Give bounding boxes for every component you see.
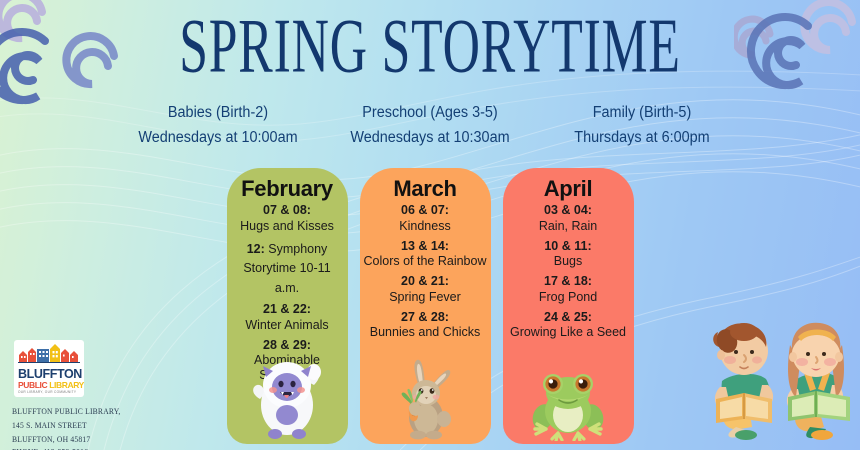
schedule-entry: 07 & 08: Hugs and Kisses: [231, 203, 344, 234]
logo-name-library: LIBRARY: [49, 381, 84, 390]
library-branding: BLUFFTON PUBLIC LIBRARY OUR LIBRARY, OUR…: [12, 340, 130, 450]
month-name: March: [364, 176, 487, 201]
entry-topic: Frog Pond: [507, 290, 630, 305]
session-age-label: Family (Birth-5): [543, 100, 740, 125]
entry-dates: 27 & 28:: [364, 310, 487, 325]
logo-name-bluffton: BLUFFTON: [18, 368, 80, 381]
page-title: SPRING STORYTIME: [77, 8, 782, 85]
entry-dates: 28 & 29:: [231, 338, 344, 353]
session-time-label: Wednesdays at 10:00am: [119, 125, 316, 150]
children-reading-illustration: [700, 315, 856, 450]
entry-topic: Bugs: [507, 254, 630, 269]
entry-topic: Bunnies and Chicks: [364, 325, 487, 340]
session-age-label: Preschool (Ages 3-5): [331, 100, 528, 125]
frog-icon: [503, 369, 634, 444]
session-list: Babies (Birth-2) Wednesdays at 10:00am P…: [0, 100, 860, 150]
month-name: February: [231, 176, 344, 201]
entry-topic: Hugs and Kisses: [231, 219, 344, 234]
entry-dates: 24 & 25:: [507, 310, 630, 325]
logo-tagline: OUR LIBRARY, OUR COMMUNITY: [18, 390, 80, 394]
session-babies: Babies (Birth-2) Wednesdays at 10:00am: [119, 100, 316, 150]
address-phone: PHONE: 419-358-5016: [12, 446, 130, 450]
entry-topic: Growing Like a Seed: [507, 325, 630, 340]
entry-dates: 21 & 22:: [231, 302, 344, 317]
entry-topic: Kindness: [364, 219, 487, 234]
yeti-snowman-icon: [227, 355, 348, 444]
library-address: BLUFFTON PUBLIC LIBRARY, 145 S. MAIN STR…: [12, 405, 130, 450]
address-line-3: BLUFFTON, OH 45817: [12, 432, 130, 446]
entry-topic: Spring Fever: [364, 290, 487, 305]
month-card-february: February 07 & 08: Hugs and Kisses 12: Sy…: [227, 168, 348, 444]
schedule-entry: 03 & 04: Rain, Rain: [507, 203, 630, 234]
session-age-label: Babies (Birth-2): [119, 100, 316, 125]
logo-name-public: PUBLIC: [18, 381, 47, 390]
entry-topic: Winter Animals: [231, 318, 344, 333]
session-preschool: Preschool (Ages 3-5) Wednesdays at 10:30…: [331, 100, 528, 150]
schedule-entry: 21 & 22: Winter Animals: [231, 302, 344, 333]
month-name: April: [507, 176, 630, 201]
entry-dates: 03 & 04:: [507, 203, 630, 218]
schedule-entry: 10 & 11: Bugs: [507, 239, 630, 270]
logo-name-row: PUBLIC LIBRARY: [18, 381, 80, 390]
schedule-entry: 20 & 21: Spring Fever: [364, 274, 487, 305]
address-line-1: BLUFFTON PUBLIC LIBRARY,: [12, 405, 130, 419]
schedule-entry: 17 & 18: Frog Pond: [507, 274, 630, 305]
entry-dates: 10 & 11:: [507, 239, 630, 254]
library-logo: BLUFFTON PUBLIC LIBRARY OUR LIBRARY, OUR…: [14, 340, 84, 397]
entry-dates: 06 & 07:: [364, 203, 487, 218]
entry-topic: Rain, Rain: [507, 219, 630, 234]
schedule-entry: 27 & 28: Bunnies and Chicks: [364, 310, 487, 341]
month-card-march: March 06 & 07: Kindness 13 & 14: Colors …: [360, 168, 491, 444]
schedule-entry: 24 & 25: Growing Like a Seed: [507, 310, 630, 341]
entry-dates: 13 & 14:: [364, 239, 487, 254]
entry-dates: 12:: [247, 242, 265, 256]
schedule-entry: 06 & 07: Kindness: [364, 203, 487, 234]
poster-title-container: SPRING STORYTIME: [0, 8, 860, 71]
session-time-label: Thursdays at 6:00pm: [543, 125, 740, 150]
entry-topic: Colors of the Rainbow: [364, 254, 487, 269]
entry-dates: 17 & 18:: [507, 274, 630, 289]
schedule-entry: 12: Symphony Storytime 10-11 a.m.: [231, 239, 344, 298]
session-family: Family (Birth-5) Thursdays at 6:00pm: [543, 100, 740, 150]
entry-dates: 07 & 08:: [231, 203, 344, 218]
month-card-april: April 03 & 04: Rain, Rain 10 & 11: Bugs …: [503, 168, 634, 444]
entry-dates: 20 & 21:: [364, 274, 487, 289]
skyline-icon: [18, 343, 80, 363]
bunny-icon: [360, 357, 491, 444]
session-time-label: Wednesdays at 10:30am: [331, 125, 528, 150]
schedule-entry: 13 & 14: Colors of the Rainbow: [364, 239, 487, 270]
address-line-2: 145 S. MAIN STREET: [12, 419, 130, 433]
